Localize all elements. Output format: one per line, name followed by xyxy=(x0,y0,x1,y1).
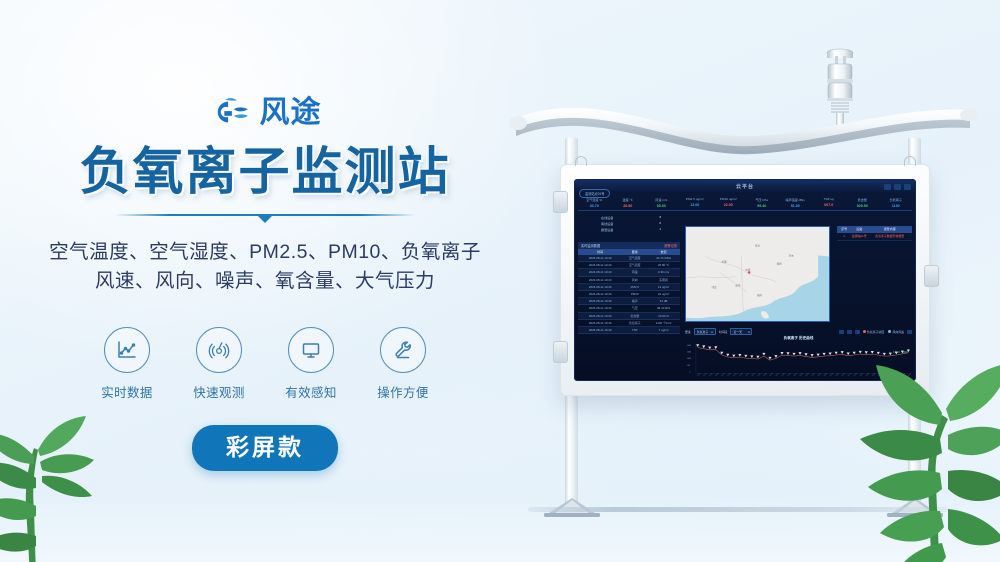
svg-text:蒙古: 蒙古 xyxy=(755,244,761,248)
cell-factor: 气压 xyxy=(620,306,649,310)
chart-tool-button[interactable] xyxy=(847,330,852,334)
line-chart-icon xyxy=(104,327,150,373)
cell-time: 2023-08-11 10:40 xyxy=(580,299,620,303)
cell-factor: 空气温度 xyxy=(620,263,649,267)
display-cabinet: 云平台 监测站点01号 空气湿度 % 43.70 温度 ℃ 26.80 风速 m… xyxy=(560,164,930,396)
subtitle-line-2: 风速、风向、噪声、氧含量、大气压力 xyxy=(49,267,481,296)
title-divider xyxy=(115,212,415,226)
stat-value: 2 xyxy=(659,221,661,226)
metric-cell: TSP ug 007.0 xyxy=(813,197,846,208)
cell-value: 7 ug/m³ xyxy=(649,328,678,332)
legend-item: 风向风速 xyxy=(888,330,904,334)
monitoring-station-product: 云平台 监测站点01号 空气湿度 % 43.70 温度 ℃ 26.80 风速 m… xyxy=(508,46,978,516)
metric-cell: PM10 ug/m³ 22.00 xyxy=(712,197,745,208)
cell-value: 22 ug/m³ xyxy=(649,292,678,296)
stat-label: 离线设备 xyxy=(601,221,613,226)
stat-label: 在线设备 xyxy=(601,215,613,220)
svg-text:500: 500 xyxy=(687,365,690,367)
chart-marker xyxy=(732,355,735,358)
table-header-bar: 实时监测数据 报警记录 xyxy=(578,242,680,249)
svg-text:朝鲜: 朝鲜 xyxy=(777,261,783,265)
alarm-column-headers: 序号 设备 报警内容 xyxy=(837,226,912,233)
chart-tool-button[interactable] xyxy=(855,330,860,334)
chart-marker xyxy=(877,352,880,355)
feature-label: 快速观测 xyxy=(193,382,245,401)
ground-line xyxy=(528,507,948,512)
svg-text:印度: 印度 xyxy=(712,285,718,289)
cell-value: 13 ug/m³ xyxy=(649,285,678,289)
mount-bracket-bottom-left xyxy=(553,341,568,363)
cell-factor: TSP xyxy=(620,328,649,332)
legend-item: 负氧离子浓度 xyxy=(863,330,885,334)
screen-badge-group xyxy=(884,184,911,190)
subtitle-line-1: 空气温度、空气湿度、PM2.5、PM10、负氧离子 xyxy=(49,241,481,263)
cell-value: 99.40 kPa xyxy=(649,306,678,310)
readout-min: 900 xyxy=(903,350,908,354)
chart-marker xyxy=(805,353,808,356)
chart-marker xyxy=(756,356,759,359)
cell-factor: 风向 xyxy=(620,278,649,282)
legend-swatch xyxy=(863,330,866,333)
table-row[interactable]: 2023-08-11 10:40 TSP 7 ug/m³ xyxy=(578,327,680,334)
chart-marker xyxy=(714,346,717,349)
metric-key: PM2.5 ug/m³ xyxy=(679,197,712,201)
dashboard-screen[interactable]: 云平台 监测站点01号 空气湿度 % 43.70 温度 ℃ 26.80 风速 m… xyxy=(574,179,916,381)
cell-time: 2023-08-11 10:40 xyxy=(580,292,620,296)
metric-value: 51.00 xyxy=(779,204,812,208)
metric-key: 气压 hPa xyxy=(746,197,779,202)
table-row[interactable]: 2023-08-11 10:40 负氧离子 1130 个/cm³ xyxy=(578,320,680,327)
metric-key: 噪声强度 dBm xyxy=(779,197,812,202)
alarm-index: 1 xyxy=(839,234,849,238)
cell-time: 2023-08-11 10:40 xyxy=(580,256,620,260)
cell-time: 2023-08-11 10:40 xyxy=(580,306,620,310)
param-label: 要素 xyxy=(685,330,691,334)
chart-marker xyxy=(744,355,747,358)
feature-icon-list: 实时数据 快速观测 xyxy=(95,327,435,401)
alarm-row[interactable]: 1 监测站01号 负氧离子数据异常报警 xyxy=(837,233,912,241)
legend-swatch xyxy=(888,330,891,333)
metric-cell: 空气湿度 % 43.70 xyxy=(578,197,611,208)
column-header: 时间 xyxy=(580,250,620,254)
brand-name: 风途 xyxy=(260,98,322,128)
metric-value: 99.40 xyxy=(746,204,779,208)
chart-marker xyxy=(762,353,765,356)
badge-icon xyxy=(884,184,891,190)
table-row[interactable]: 2023-08-11 10:40 氧含量 20.90 % xyxy=(578,313,680,320)
metric-cell: 负氧离子 1130 xyxy=(880,197,913,208)
column-header: 序号 xyxy=(839,227,849,231)
chart-controls: 要素 负氧离子 时间段 近一天 负氧离子浓度 xyxy=(685,328,912,335)
divider-caret-icon xyxy=(257,215,273,223)
legend-label: 风向风速 xyxy=(892,330,904,334)
metric-value: 007.0 xyxy=(813,203,846,207)
metric-cell: 气压 hPa 99.40 xyxy=(746,197,779,208)
mount-bracket-top-left xyxy=(553,191,568,213)
svg-text:1500: 1500 xyxy=(687,352,691,354)
chart-marker xyxy=(780,352,783,355)
legend-label: 负氧离子浓度 xyxy=(867,330,884,334)
cell-factor: PM2.5 xyxy=(620,285,649,289)
device-stats: 在线设备 3 离线设备 2 报警设备 1 xyxy=(601,214,661,233)
china-map[interactable]: 中国 新疆 蒙古 朝鲜 云南 越南 印度 日本 xyxy=(685,226,830,322)
alarm-device: 监测站01号 xyxy=(849,234,869,238)
wrench-icon xyxy=(380,327,426,373)
table-row[interactable]: 2023-08-11 10:40 风向 东南风 xyxy=(578,277,680,284)
column-header: 数值 xyxy=(649,250,678,254)
metric-key: 风速 m/s xyxy=(645,197,678,202)
chart-marker xyxy=(847,353,850,356)
monitor-icon xyxy=(288,327,334,373)
feature-subtitle: 空气温度、空气湿度、PM2.5、PM10、负氧离子 风速、风向、噪声、氧含量、大… xyxy=(49,238,481,297)
table-row[interactable]: 2023-08-11 10:40 PM10 22 ug/m³ xyxy=(578,291,680,298)
cell-value: 0.30 m/s xyxy=(649,270,678,274)
cell-factor: 噪声 xyxy=(620,299,649,303)
alarm-table[interactable]: 序号 设备 报警内容 1 监测站01号 负氧离子数据异常报警 xyxy=(837,226,912,241)
chart-marker xyxy=(738,354,741,357)
metric-cell: 氧含量 020.90 xyxy=(846,197,879,208)
svg-text:日本: 日本 xyxy=(789,254,795,258)
radar-scan-icon xyxy=(196,327,242,373)
svg-text:0: 0 xyxy=(690,372,691,374)
metric-cell: 温度 ℃ 26.80 xyxy=(612,197,645,208)
chart-marker xyxy=(865,351,868,354)
chart-marker xyxy=(871,351,874,354)
chart-marker xyxy=(841,351,844,354)
chart-marker xyxy=(829,353,832,356)
svg-text:新疆: 新疆 xyxy=(721,260,727,264)
cell-time: 2023-08-11 10:40 xyxy=(580,321,620,325)
chart-tool-button[interactable] xyxy=(839,330,844,334)
brand-logo: 风途 xyxy=(209,96,322,130)
alarm-badge[interactable]: 报警记录 xyxy=(664,243,677,248)
metric-value: 22.00 xyxy=(712,203,745,207)
table-row[interactable]: 2023-08-11 10:40 风速 0.30 m/s xyxy=(578,269,680,276)
badge-icon xyxy=(894,184,901,190)
cell-value: 1130 个/cm³ xyxy=(649,321,678,325)
chart-plot: 20001500 10005000 10:0010:1010:2010:3010… xyxy=(685,342,912,381)
svg-text:越南: 越南 xyxy=(757,293,763,297)
chart-marker xyxy=(696,344,699,347)
table-row[interactable]: 2023-08-11 10:40 噪声 51 dB xyxy=(578,298,680,305)
table-row[interactable]: 2023-08-11 10:40 气压 99.40 kPa xyxy=(578,305,680,312)
chart-marker xyxy=(823,353,826,356)
chart-legend: 负氧离子浓度 风向风速 xyxy=(863,330,904,334)
metric-value: 1130 xyxy=(880,204,913,208)
screen-header-glow xyxy=(575,180,915,193)
feature-item-realtime-data[interactable]: 实时数据 xyxy=(95,327,159,401)
chart-marker xyxy=(792,353,795,356)
marketing-panel: 风途 负氧离子监测站 空气温度、空气湿度、PM2.5、PM10、负氧离子 风速、… xyxy=(0,0,530,562)
feature-label: 有效感知 xyxy=(285,382,337,401)
metric-cell: PM2.5 ug/m³ 13.00 xyxy=(679,197,712,208)
chart-marker xyxy=(817,354,820,357)
readout-max: 1780 xyxy=(893,350,900,354)
badge-icon xyxy=(904,184,911,190)
map-graphic: 中国 新疆 蒙古 朝鲜 云南 越南 印度 日本 xyxy=(686,227,829,322)
history-chart-panel: 要素 负氧离子 时间段 近一天 负氧离子浓度 xyxy=(685,328,912,377)
chart-marker xyxy=(853,352,856,355)
cell-value: 20.90 % xyxy=(649,314,678,318)
chart-marker xyxy=(798,352,801,355)
metric-value: 43.70 xyxy=(578,204,611,208)
metric-cell: 风速 m/s 00.30 xyxy=(645,197,678,208)
param-select[interactable]: 负氧离子 xyxy=(694,328,716,335)
leaf-g-logo-icon xyxy=(209,96,251,130)
chart-marker xyxy=(811,354,814,357)
realtime-data-table[interactable]: 实时监测数据 报警记录 时间 要素 数值 2023-08-11 10:40 空气… xyxy=(578,242,680,334)
cell-time: 2023-08-11 10:40 xyxy=(580,328,620,332)
metric-key: PM10 ug/m³ xyxy=(712,197,745,201)
metric-key: 负氧离子 xyxy=(880,197,913,202)
chart-title: 负氧离子 历史曲线 xyxy=(685,336,912,341)
metric-cell: 噪声强度 dBm 51.00 xyxy=(779,197,812,208)
metric-value: 020.90 xyxy=(846,204,879,208)
svg-text:2000: 2000 xyxy=(687,345,691,347)
hanger-right xyxy=(904,156,916,166)
cell-time: 2023-08-11 10:40 xyxy=(580,314,620,318)
range-label: 时间段 xyxy=(719,330,728,334)
cell-value: 东南风 xyxy=(649,278,678,282)
cell-factor: PM10 xyxy=(620,292,649,296)
chart-marker xyxy=(702,346,705,349)
cell-time: 2023-08-11 10:40 xyxy=(580,270,620,274)
chart-export-button[interactable] xyxy=(907,330,912,334)
chart-marker xyxy=(859,351,862,354)
chart-marker xyxy=(889,353,892,356)
table-row[interactable]: 2023-08-11 10:40 PM2.5 13 ug/m³ xyxy=(578,284,680,291)
mount-bracket-right xyxy=(924,265,939,287)
metric-key: 空气湿度 % xyxy=(578,197,611,202)
table-title: 实时监测数据 xyxy=(581,243,600,248)
svg-text:云南: 云南 xyxy=(735,283,741,287)
cell-value: 26.80 ℃ xyxy=(649,263,678,267)
table-row[interactable]: 2023-08-11 10:40 空气温度 26.80 ℃ xyxy=(578,262,680,269)
feature-label: 操作方便 xyxy=(377,382,429,401)
chart-readout: 1780 900 xyxy=(893,350,908,354)
cell-factor: 空气湿度 xyxy=(620,256,649,260)
metric-value: 26.80 xyxy=(612,204,645,208)
cell-factor: 氧含量 xyxy=(620,314,649,318)
hanger-left xyxy=(575,156,587,166)
cell-factor: 负氧离子 xyxy=(620,321,649,325)
chart-marker xyxy=(750,356,753,359)
cell-value: 43.70 %RH xyxy=(649,256,678,260)
stat-label: 报警设备 xyxy=(601,227,613,232)
chart-marker xyxy=(835,352,838,355)
chart-marker xyxy=(786,352,789,355)
metric-strip: 空气湿度 % 43.70 温度 ℃ 26.80 风速 m/s 00.30 PM2… xyxy=(578,197,912,211)
chart-marker xyxy=(708,347,711,350)
range-select[interactable]: 近一天 xyxy=(730,328,752,335)
metric-value: 13.00 xyxy=(679,203,712,207)
color-screen-button[interactable]: 彩屏款 xyxy=(192,425,338,471)
feature-label: 实时数据 xyxy=(101,382,153,401)
cell-time: 2023-08-11 10:40 xyxy=(580,278,620,282)
metric-key: TSP ug xyxy=(813,197,846,201)
chart-svg: 20001500 10005000 10:0010:1010:2010:3010… xyxy=(685,342,912,381)
table-row[interactable]: 2023-08-11 10:40 空气湿度 43.70 %RH xyxy=(578,255,680,262)
cell-value: 51 dB xyxy=(649,299,678,303)
feature-item-effective-sensing[interactable]: 有效感知 xyxy=(279,327,343,401)
svg-text:中国: 中国 xyxy=(745,267,751,271)
alarm-message: 负氧离子数据异常报警 xyxy=(869,234,910,238)
metric-key: 氧含量 xyxy=(846,197,879,202)
cell-factor: 风速 xyxy=(620,270,649,274)
page-title: 负氧离子监测站 xyxy=(79,144,450,199)
stat-value: 3 xyxy=(659,215,661,220)
chart-marker xyxy=(883,353,886,356)
stat-value: 1 xyxy=(659,227,661,232)
column-header: 要素 xyxy=(620,250,649,254)
svg-text:1000: 1000 xyxy=(687,358,691,360)
column-header: 设备 xyxy=(849,227,869,231)
cell-time: 2023-08-11 10:40 xyxy=(580,285,620,289)
feature-item-easy-operation[interactable]: 操作方便 xyxy=(371,327,435,401)
cell-time: 2023-08-11 10:40 xyxy=(580,263,620,267)
metric-value: 00.30 xyxy=(645,204,678,208)
chart-marker xyxy=(726,354,729,357)
feature-item-fast-observation[interactable]: 快速观测 xyxy=(187,327,251,401)
stat-row: 报警设备 1 xyxy=(601,226,661,232)
column-header: 报警内容 xyxy=(869,227,910,231)
metric-key: 温度 ℃ xyxy=(612,197,645,202)
chart-marker xyxy=(774,355,777,358)
